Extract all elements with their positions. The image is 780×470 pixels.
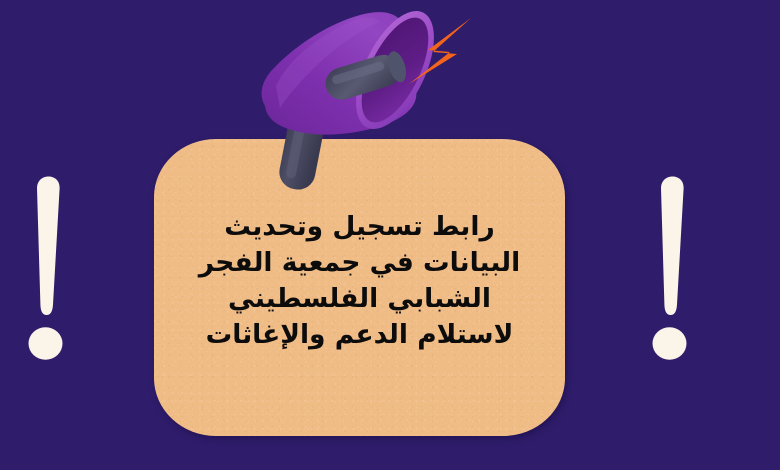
exclamation-mark-icon (642, 176, 702, 366)
lightning-bolt-icon (405, 14, 477, 88)
page-title: رابط تسجيل وتحديث البيانات في جمعية الفج… (176, 209, 543, 353)
exclamation-mark-icon (18, 176, 78, 366)
announcement-poster: رابط تسجيل وتحديث البيانات في جمعية الفج… (0, 0, 780, 470)
